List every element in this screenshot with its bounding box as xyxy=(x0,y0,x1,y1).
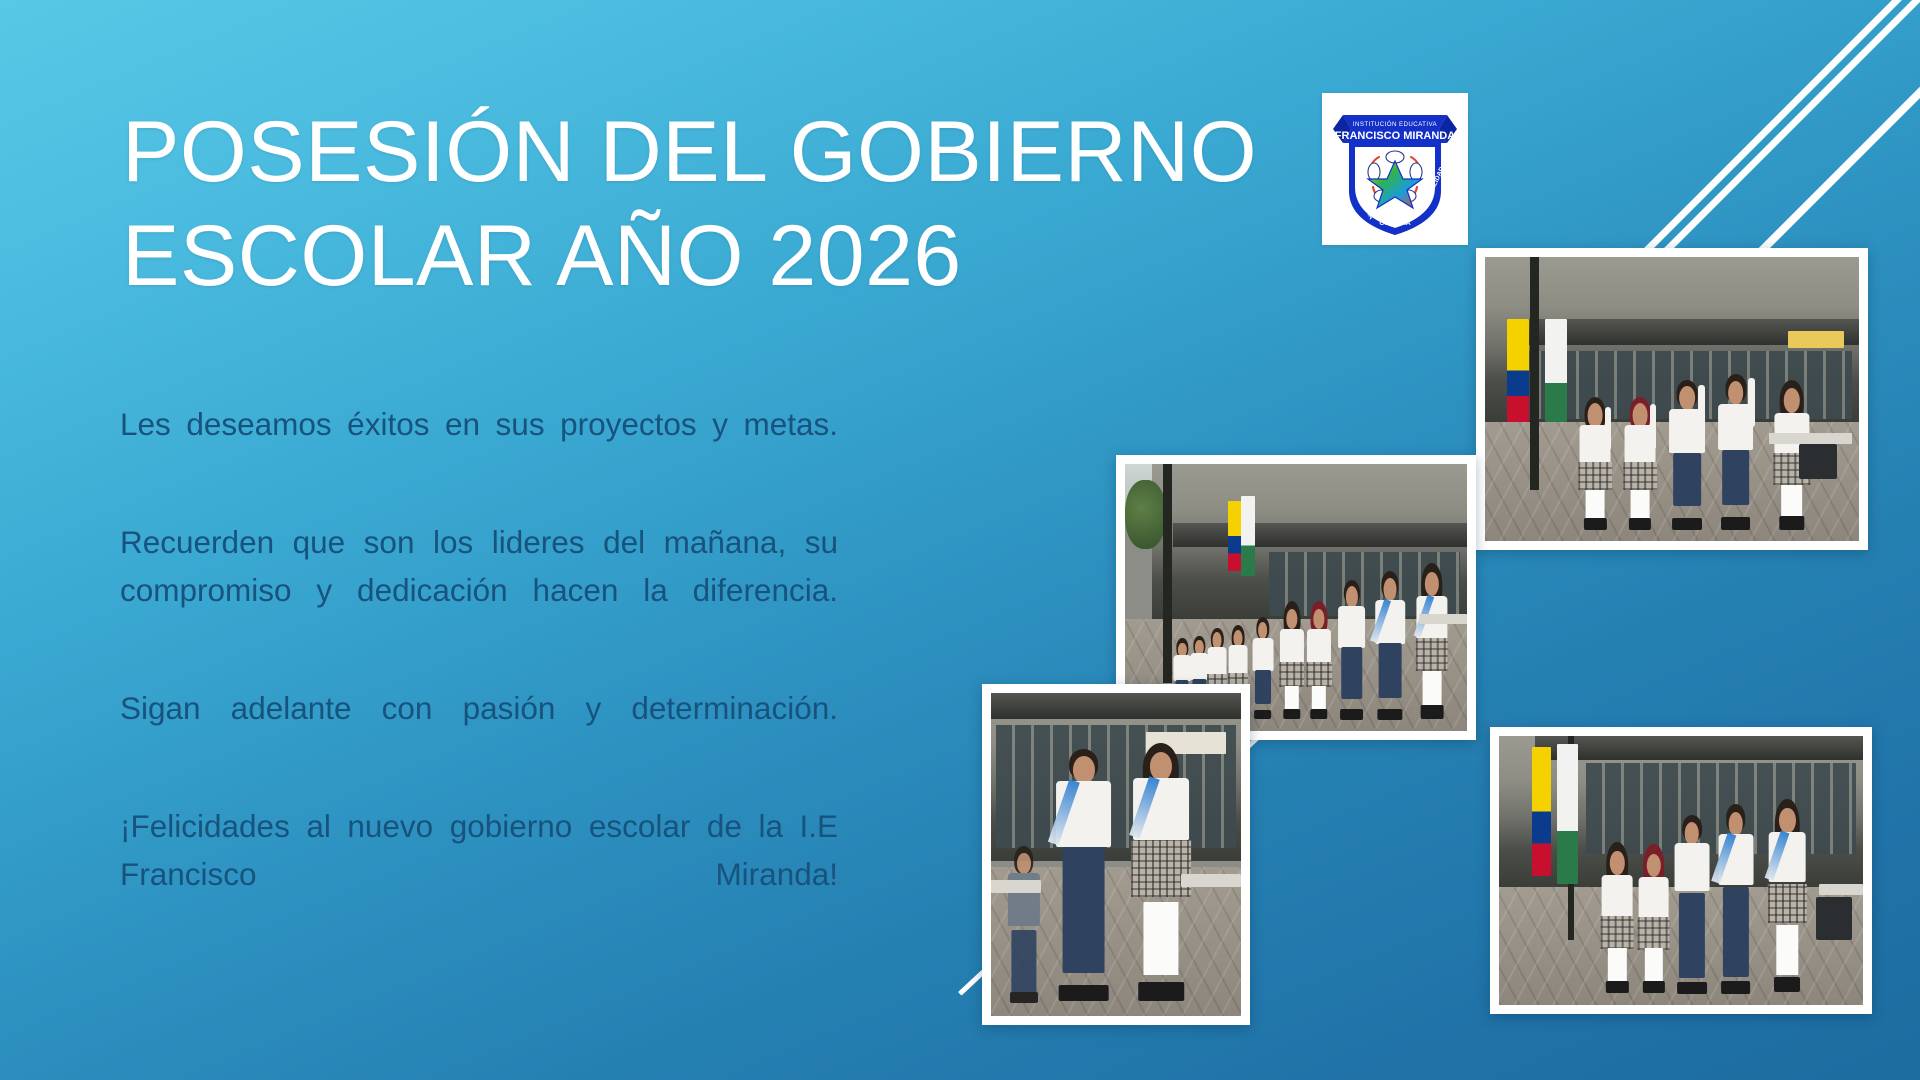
school-logo: INSTITUCIÓN EDUCATIVA FRANCISCO MIRANDA xyxy=(1322,93,1468,245)
photo-oath-ceremony-image xyxy=(1485,257,1859,541)
photo-oath-ceremony xyxy=(1476,248,1868,550)
crest-school-name: FRANCISCO MIRANDA xyxy=(1335,130,1455,142)
diagonal-line-3 xyxy=(1742,0,1920,271)
photo-two-leaders-image xyxy=(991,693,1241,1016)
title-line-2: ESCOLAR AÑO 2026 xyxy=(122,204,1322,308)
title-line-1: POSESIÓN DEL GOBIERNO xyxy=(122,100,1322,204)
photo-two-leaders xyxy=(982,684,1250,1025)
slide-title: POSESIÓN DEL GOBIERNO ESCOLAR AÑO 2026 xyxy=(122,100,1322,308)
photo-group-flags-image xyxy=(1499,736,1863,1005)
crest-header-text: INSTITUCIÓN EDUCATIVA xyxy=(1353,121,1438,128)
crest-motto-center: CULTURA xyxy=(1379,220,1411,227)
crest-icon: INSTITUCIÓN EDUCATIVA FRANCISCO MIRANDA xyxy=(1329,99,1461,239)
paragraph-2: Recuerden que son los lideres del mañana… xyxy=(120,518,838,662)
paragraph-4: ¡Felicidades al nuevo gobierno escolar d… xyxy=(120,802,838,946)
paragraph-1: Les deseamos éxitos en sus proyectos y m… xyxy=(120,400,838,496)
slide-body: Les deseamos éxitos en sus proyectos y m… xyxy=(120,400,838,946)
presentation-slide: POSESIÓN DEL GOBIERNO ESCOLAR AÑO 2026 L… xyxy=(0,0,1920,1080)
diagonal-line-1 xyxy=(1622,0,1920,275)
photo-group-flags xyxy=(1490,727,1872,1014)
diagonal-line-2 xyxy=(1642,0,1920,275)
paragraph-3: Sigan adelante con pasión y determinació… xyxy=(120,684,838,780)
